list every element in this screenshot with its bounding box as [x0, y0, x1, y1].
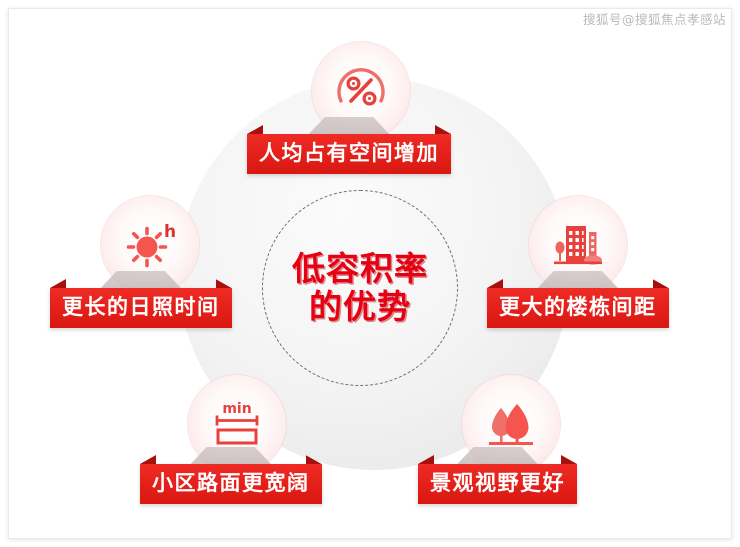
svg-text:h: h: [164, 222, 176, 242]
ribbon-right[interactable]: 更大的楼栋间距: [487, 288, 669, 328]
watermark-text: 搜狐号@搜狐焦点孝感站: [583, 9, 726, 28]
percent-gauge-icon: [331, 61, 391, 121]
ribbon-label-left[interactable]: 更长的日照时间: [50, 288, 232, 328]
min-width-road-icon: min: [206, 393, 268, 455]
svg-text:min: min: [222, 401, 251, 417]
ribbon-bottom-right[interactable]: 景观视野更好: [418, 464, 577, 504]
ribbon-top[interactable]: 人均占有空间增加: [247, 134, 451, 174]
ribbon-left[interactable]: 更长的日照时间: [50, 288, 232, 328]
ribbon-label-top[interactable]: 人均占有空间增加: [247, 134, 451, 174]
infographic-canvas: 搜狐号@搜狐焦点孝感站 低容积率 的优势 人均占有空间增加: [0, 0, 740, 547]
dashed-center-ring: [262, 190, 458, 386]
sun-hours-icon: h: [120, 215, 180, 275]
two-trees-icon: [481, 394, 541, 454]
ribbon-label-right[interactable]: 更大的楼栋间距: [487, 288, 669, 328]
ribbon-label-bottom-right[interactable]: 景观视野更好: [418, 464, 577, 504]
ribbon-label-bottom-left[interactable]: 小区路面更宽阔: [140, 464, 322, 504]
buildings-spacing-icon: [548, 215, 608, 275]
ribbon-bottom-left[interactable]: 小区路面更宽阔: [140, 464, 322, 504]
